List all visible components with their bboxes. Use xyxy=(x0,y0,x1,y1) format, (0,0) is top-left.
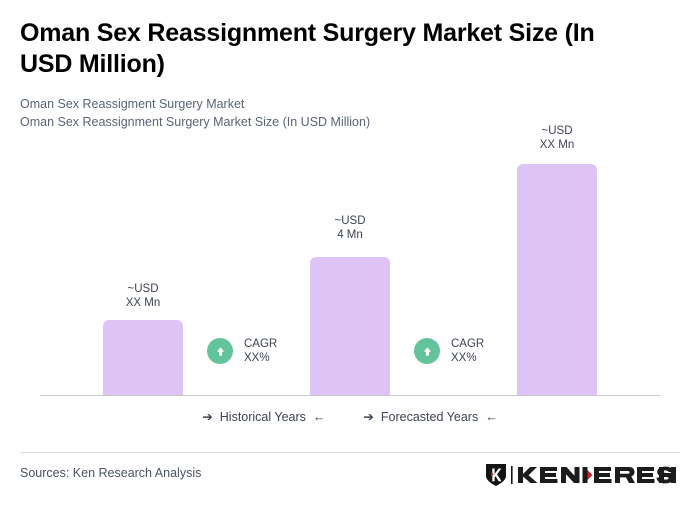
legend-label-historical: Historical Years xyxy=(213,410,313,424)
cagr-badge-1[interactable]: CAGR XX% xyxy=(207,337,277,366)
bar-forecasted[interactable] xyxy=(517,164,597,395)
page-title: Oman Sex Reassignment Surgery Market Siz… xyxy=(20,18,645,79)
cagr-label-2: CAGR XX% xyxy=(451,337,484,366)
cagr-label-1: CAGR XX% xyxy=(244,337,277,366)
bar-historical[interactable] xyxy=(103,320,183,395)
chart-header: Oman Sex Reassignment Surgery Market Siz… xyxy=(20,18,660,131)
cagr-badge-2[interactable]: CAGR XX% xyxy=(414,337,484,366)
legend-label-forecasted: Forecasted Years xyxy=(374,410,485,424)
period-legend: ➔Historical Years← ➔Forecasted Years← xyxy=(40,409,660,424)
ken-research-wordmark xyxy=(516,465,684,485)
bar-value-label: ~USD XX Mn xyxy=(516,124,598,153)
ken-research-logo xyxy=(484,463,684,487)
arrow-right-icon: ➔ xyxy=(202,410,212,424)
arrow-up-icon xyxy=(414,338,440,364)
logo-divider xyxy=(508,464,516,486)
subtitle-line-1: Oman Sex Reassigment Surgery Market xyxy=(20,95,660,113)
arrow-left-icon: ← xyxy=(313,410,326,424)
legend-item-historical[interactable]: ➔Historical Years← xyxy=(202,409,325,424)
bar-mid[interactable] xyxy=(310,257,390,395)
shield-k-icon xyxy=(484,463,508,487)
arrow-left-icon: ← xyxy=(485,410,498,424)
arrow-right-icon: ➔ xyxy=(363,410,373,424)
sources-label: Sources: Ken Research Analysis xyxy=(20,466,201,480)
bar-value-label: ~USD XX Mn xyxy=(102,282,184,311)
chart-page: Oman Sex Reassignment Surgery Market Siz… xyxy=(0,0,700,520)
x-axis-baseline xyxy=(40,395,660,396)
bar-value-label: ~USD 4 Mn xyxy=(309,214,391,243)
footer-divider xyxy=(20,452,680,453)
arrow-up-icon xyxy=(207,338,233,364)
legend-item-forecasted[interactable]: ➔Forecasted Years← xyxy=(363,409,497,424)
